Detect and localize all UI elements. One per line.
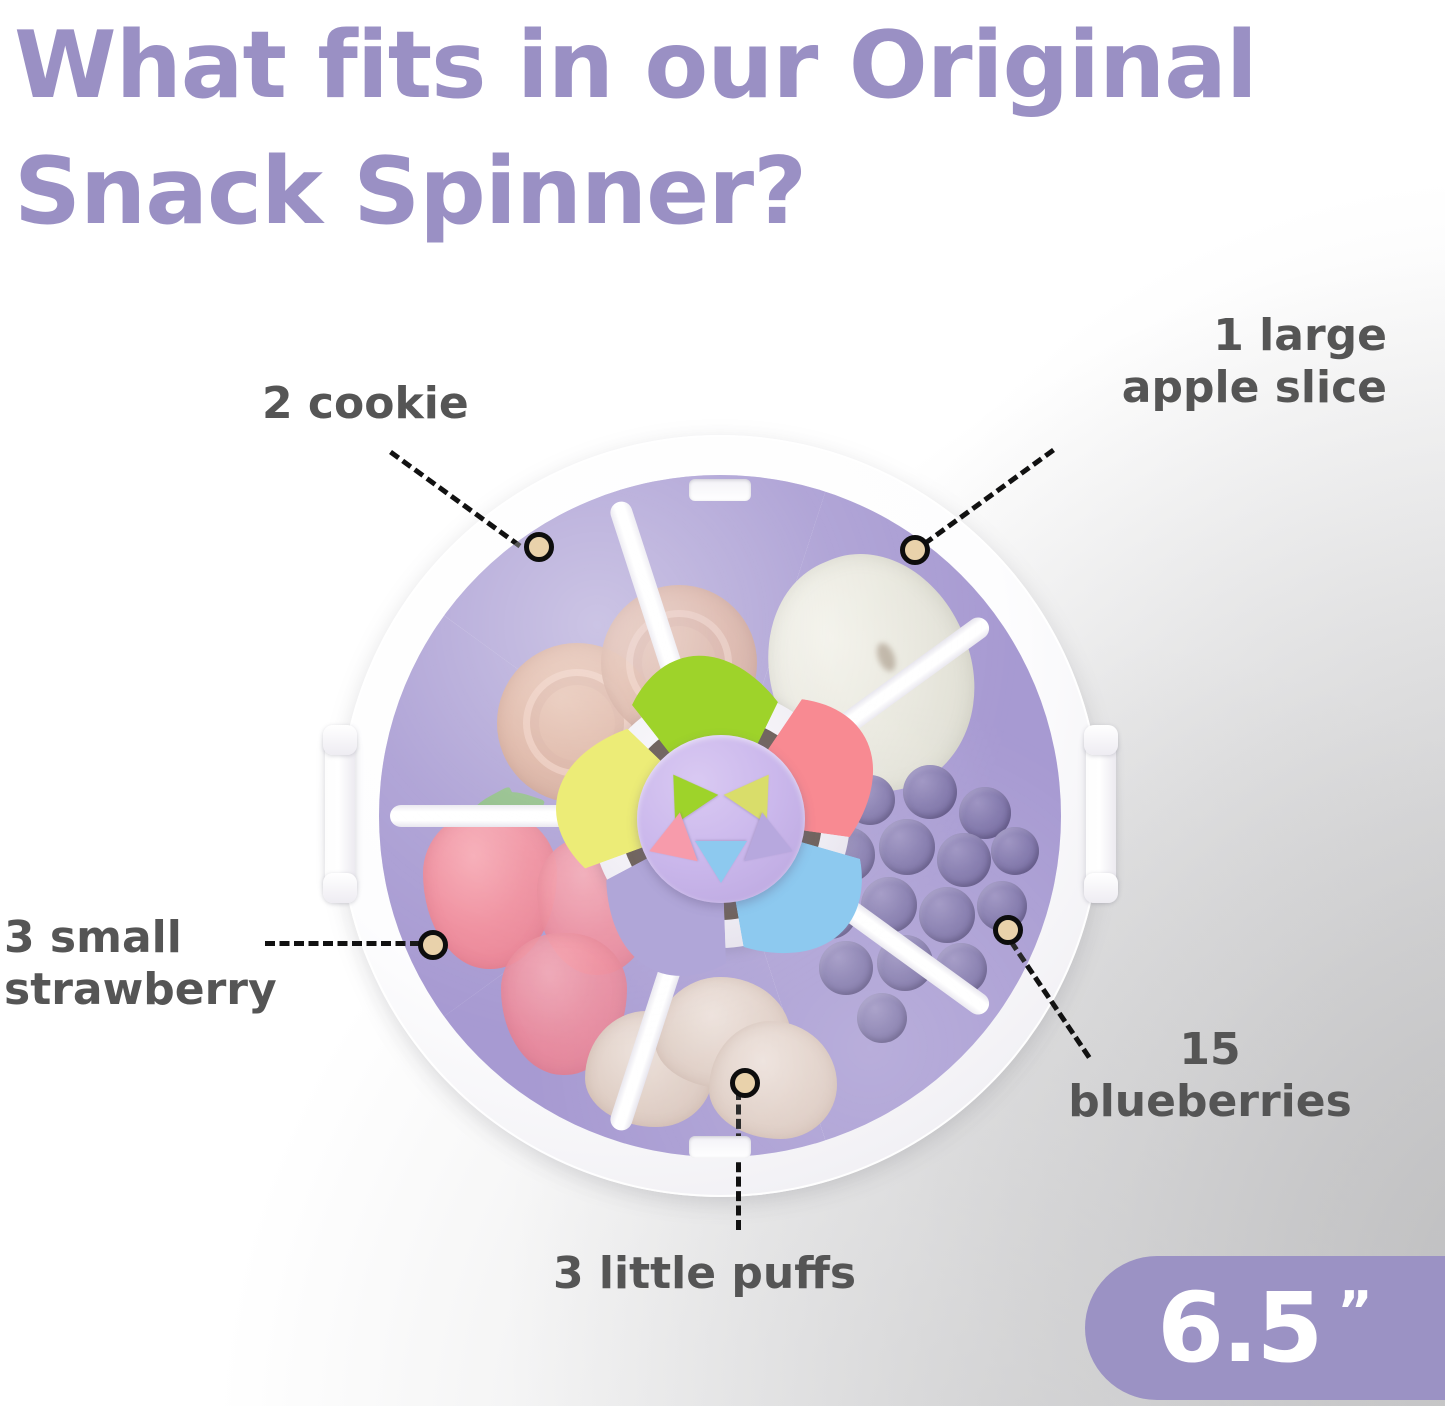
hinge-clip-right-icon[interactable] [1086, 731, 1116, 897]
callout-dot-puffs[interactable] [730, 1068, 760, 1098]
latch-notch-bottom[interactable] [689, 1136, 751, 1158]
callout-label-apple-slice: 1 large apple slice [1122, 310, 1387, 414]
snack-spinner-product [333, 431, 1108, 1206]
blueberry-icon [919, 887, 975, 943]
page-title: What fits in our Original Snack Spinner? [14, 2, 1414, 255]
dial-triangle-green [651, 760, 718, 824]
size-badge-unit: ” [1337, 1285, 1373, 1339]
blueberry-icon [937, 833, 991, 887]
callout-dot-strawberry[interactable] [418, 930, 448, 960]
blueberry-icon [903, 765, 957, 819]
blueberry-icon [991, 827, 1039, 875]
dial-triangle-yellow [723, 760, 790, 824]
callout-label-cookie: 2 cookie [262, 378, 469, 430]
blueberry-icon [857, 993, 907, 1043]
size-badge: 6.5 ” [1085, 1256, 1445, 1400]
callout-label-strawberry: 3 small strawberry [4, 912, 277, 1016]
dial-triangle-blue [695, 841, 747, 883]
latch-notch-top[interactable] [689, 479, 751, 501]
callout-label-blueberries: 15 blueberries [1015, 1024, 1405, 1128]
spinner-dial-knob[interactable] [637, 735, 805, 903]
hinge-clip-left-icon[interactable] [325, 731, 355, 897]
size-badge-value: 6.5 [1157, 1280, 1321, 1376]
spinner-dial-assembly[interactable] [592, 690, 850, 948]
callout-dot-blueberry[interactable] [993, 915, 1023, 945]
callout-dot-cookie[interactable] [524, 532, 554, 562]
callout-label-puffs: 3 little puffs [553, 1248, 856, 1300]
infographic-canvas: What fits in our Original Snack Spinner? [0, 0, 1445, 1406]
blueberry-icon [879, 819, 935, 875]
callout-dot-apple[interactable] [900, 535, 930, 565]
